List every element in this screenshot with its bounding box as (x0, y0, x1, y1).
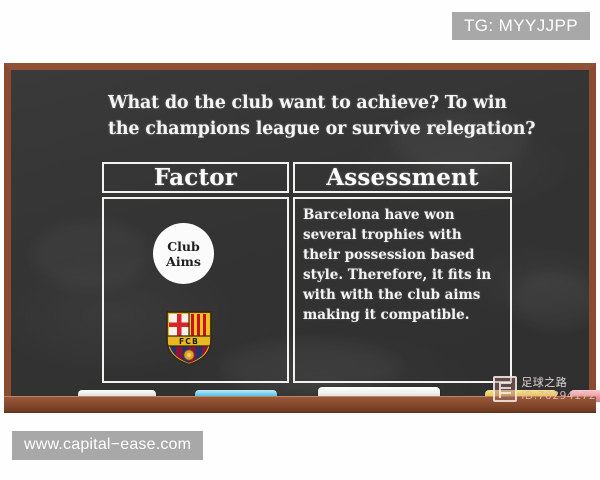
blackboard-frame: What do the club want to achieve? To win… (4, 63, 596, 412)
page-background: TG: MYYJJPP What do the club want to ach… (0, 0, 600, 480)
assessment-text: Barcelona have won several trophies with… (295, 199, 510, 325)
club-aims-line-1: Club (167, 239, 200, 254)
fc-barcelona-crest-icon: FCB (166, 311, 212, 365)
table-row: Club Aims (102, 197, 289, 383)
site-logo-icon (493, 376, 517, 402)
table-header-factor-label: Factor (104, 164, 287, 191)
table-header-assessment-cell: Assessment (293, 162, 512, 193)
table-header-factor-cell: Factor (102, 162, 289, 193)
tg-watermark-band: TG: MYYJJPP (452, 12, 590, 40)
assessment-cell: Barcelona have won several trophies with… (293, 197, 512, 383)
site-watermark-name: 足球之路 (521, 376, 596, 389)
site-watermark-id: ID:70294172 (521, 389, 596, 402)
club-aims-line-2: Aims (166, 254, 201, 269)
chalk-smudge (511, 270, 596, 330)
crest-letters: FCB (179, 337, 199, 346)
club-aims-badge: Club Aims (153, 223, 214, 284)
board-heading: What do the club want to achieve? To win… (108, 90, 538, 142)
chalk-ledge-shadow (4, 410, 596, 413)
site-watermark-text: 足球之路 ID:70294172 (521, 376, 596, 402)
site-watermark: 足球之路 ID:70294172 (493, 376, 596, 402)
table-header-assessment-label: Assessment (295, 164, 510, 191)
url-watermark-band: www.capital−ease.com (12, 431, 203, 460)
blackboard-surface: What do the club want to achieve? To win… (11, 70, 589, 412)
factor-assessment-table: Factor Assessment Club Aims (102, 162, 512, 383)
